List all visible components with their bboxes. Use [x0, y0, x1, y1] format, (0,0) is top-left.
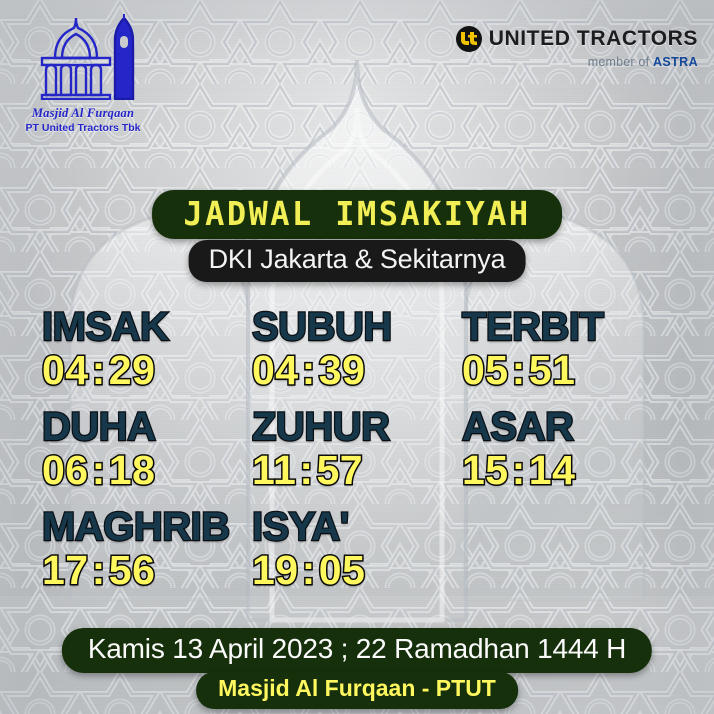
- footer-date-pill: Kamis 13 April 2023 ; 22 Ramadhan 1444 H: [62, 628, 652, 673]
- prayer-cell-terbit: TERBIT 05:51: [462, 308, 672, 408]
- masjid-logo-sub: PT United Tractors Tbk: [18, 122, 148, 134]
- ut-wordmark: UNITED TRACTORS: [489, 27, 698, 51]
- astra-member-line: member of ASTRA: [456, 55, 698, 69]
- astra-member-prefix: member of: [588, 55, 650, 69]
- prayer-cell-subuh: SUBUH 04:39: [252, 308, 462, 408]
- prayer-cell-imsak: IMSAK 04:29: [42, 308, 252, 408]
- prayer-time: 06:18: [42, 448, 252, 492]
- title-subtitle-pill: DKI Jakarta & Sekitarnya: [189, 240, 526, 282]
- prayer-cell-maghrib: MAGHRIB 17:56: [42, 508, 252, 608]
- prayer-label: ISYA': [252, 508, 462, 547]
- prayer-time: 17:56: [42, 548, 252, 592]
- page-subtitle: DKI Jakarta & Sekitarnya: [209, 244, 506, 275]
- prayer-cell-isya: ISYA' 19:05: [252, 508, 462, 608]
- masjid-logo: Masjid Al Furqaan PT United Tractors Tbk: [18, 14, 148, 134]
- prayer-time: 04:29: [42, 348, 252, 392]
- footer-place-pill: Masjid Al Furqaan - PTUT: [196, 672, 518, 709]
- prayer-time: 05:51: [462, 348, 672, 392]
- prayer-label: ASAR: [462, 408, 672, 447]
- prayer-label: ZUHUR: [252, 408, 462, 447]
- poster-header: Masjid Al Furqaan PT United Tractors Tbk…: [0, 0, 714, 130]
- prayer-label: TERBIT: [462, 308, 672, 347]
- title-main-pill: JADWAL IMSAKIYAH: [152, 190, 562, 239]
- prayer-cell-duha: DUHA 06:18: [42, 408, 252, 508]
- mosque-icon: [18, 14, 148, 100]
- page-title: JADWAL IMSAKIYAH: [183, 197, 530, 230]
- ut-circle-icon: [456, 26, 482, 52]
- footer-place-text: Masjid Al Furqaan - PTUT: [218, 675, 496, 703]
- prayer-cell-zuhur: ZUHUR 11:57: [252, 408, 462, 508]
- footer-date-text: Kamis 13 April 2023 ; 22 Ramadhan 1444 H: [88, 633, 626, 665]
- prayer-times-grid: IMSAK 04:29 SUBUH 04:39 TERBIT 05:51 DUH…: [0, 308, 714, 608]
- prayer-cell-asar: ASAR 15:14: [462, 408, 672, 508]
- prayer-time: 19:05: [252, 548, 462, 592]
- prayer-label: SUBUH: [252, 308, 462, 347]
- imsakiyah-poster: Masjid Al Furqaan PT United Tractors Tbk…: [0, 0, 714, 714]
- astra-brand: ASTRA: [653, 55, 698, 69]
- prayer-time: 11:57: [252, 448, 462, 492]
- united-tractors-logo: UNITED TRACTORS member of ASTRA: [456, 26, 698, 69]
- prayer-label: DUHA: [42, 408, 252, 447]
- masjid-logo-name: Masjid Al Furqaan: [18, 106, 148, 121]
- prayer-label: MAGHRIB: [42, 508, 252, 547]
- prayer-label: IMSAK: [42, 308, 252, 347]
- prayer-time: 15:14: [462, 448, 672, 492]
- prayer-time: 04:39: [252, 348, 462, 392]
